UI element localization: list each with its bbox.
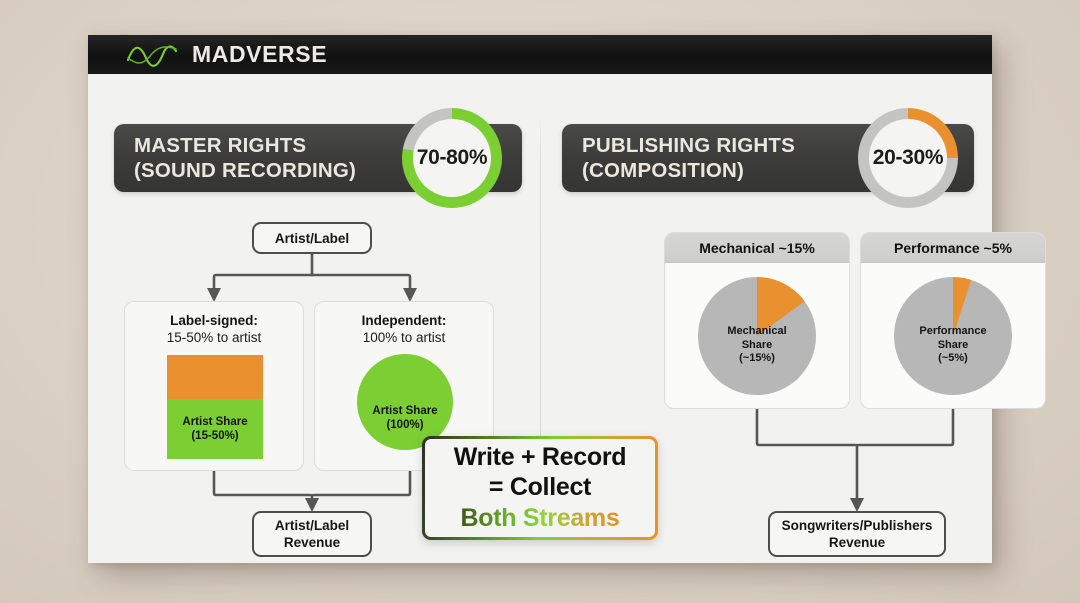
pie-performance-chart: Performance Share (~5%) (894, 277, 1012, 395)
brand-bar: MADVERSE (88, 35, 992, 74)
pie-mechanical-label-line1: Mechanical (698, 325, 816, 339)
pie-performance-body: Performance Share (~5%) (861, 263, 1045, 409)
arrow-to-artist-revenue (305, 498, 319, 512)
callout-line2: = Collect (489, 473, 591, 502)
callout-box: Write + Record = Collect Both Streams (422, 436, 658, 540)
branch-indie-subtitle: 100% to artist (315, 329, 493, 347)
branch-indie-title: Independent: (315, 312, 493, 329)
branch-label-title: Label-signed: (125, 312, 303, 329)
arrow-to-label-branch (207, 288, 221, 302)
pie-performance-label-line1: Performance (894, 325, 1012, 339)
arrow-to-indie-branch (403, 288, 417, 302)
arrow-to-songwriter-revenue (850, 498, 864, 512)
pie-mechanical-label: Mechanical Share (~15%) (698, 325, 816, 366)
node-artist-label[interactable]: Artist/Label (252, 222, 372, 254)
indie-share-label-line2: (100%) (386, 418, 423, 432)
pie-card-performance: Performance ~5% Performance Share (~5%) (860, 232, 1046, 409)
label-share-segment (167, 355, 263, 399)
artist-revenue-line2: Revenue (284, 535, 340, 550)
callout-line3: Both Streams (461, 503, 620, 533)
indie-share-label-line1: Artist Share (372, 404, 437, 418)
label-signed-stacked-bar: Artist Share (15-50%) (167, 355, 263, 459)
pie-mechanical-chart: Mechanical Share (~15%) (698, 277, 816, 395)
node-artist-label-revenue[interactable]: Artist/Label Revenue (252, 511, 372, 557)
songwriter-revenue-line2: Revenue (829, 535, 885, 550)
pie-mechanical-label-line2: Share (698, 339, 816, 353)
infographic-card: MADVERSE MASTER RIGHTS (SOUND RECORDING)… (88, 35, 992, 563)
pie-performance-label-line3: (~5%) (894, 352, 1012, 366)
node-songwriters-publishers-revenue[interactable]: Songwriters/Publishers Revenue (768, 511, 946, 557)
waveform-logo-icon (126, 42, 178, 68)
artist-share-segment: Artist Share (15-50%) (167, 399, 263, 459)
branch-label-signed: Label-signed: 15-50% to artist Artist Sh… (124, 301, 304, 471)
node-artist-label-text: Artist/Label (275, 230, 349, 247)
pie-card-mechanical: Mechanical ~15% Mechanical Share (~15%) (664, 232, 850, 409)
artist-share-label-line1: Artist Share (182, 415, 247, 429)
artist-share-label-line2: (15-50%) (191, 429, 238, 443)
pie-performance-label: Performance Share (~5%) (894, 325, 1012, 366)
brand-name: MADVERSE (192, 41, 327, 68)
pie-mechanical-label-line3: (~15%) (698, 352, 816, 366)
songwriter-revenue-line1: Songwriters/Publishers (782, 518, 933, 533)
callout-inner: Write + Record = Collect Both Streams (425, 439, 655, 537)
pie-performance-label-line2: Share (894, 339, 1012, 353)
pie-mechanical-body: Mechanical Share (~15%) (665, 263, 849, 409)
pie-performance-header: Performance ~5% (861, 233, 1045, 263)
artist-revenue-line1: Artist/Label (275, 518, 349, 533)
branch-label-subtitle: 15-50% to artist (125, 329, 303, 347)
pie-mechanical-header: Mechanical ~15% (665, 233, 849, 263)
callout-line1: Write + Record (454, 443, 626, 472)
